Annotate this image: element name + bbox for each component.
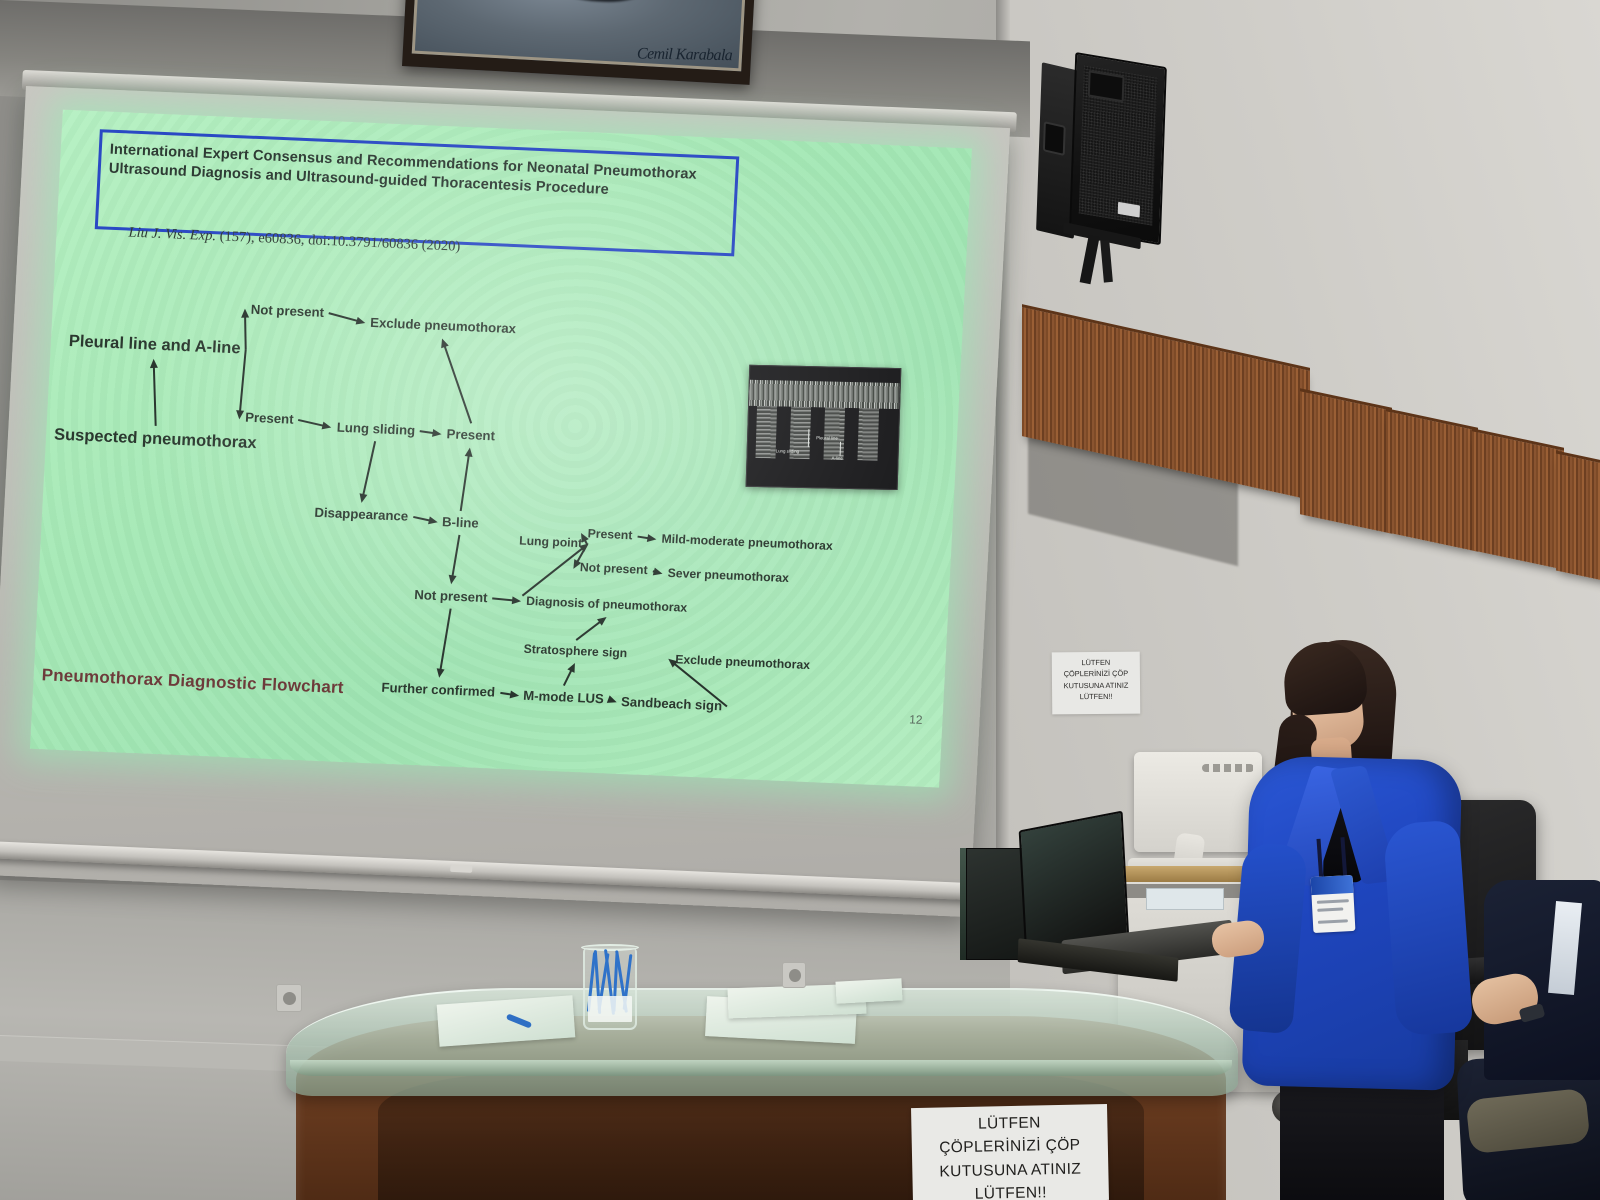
flow-edge-lung_point-to-present_3	[582, 534, 587, 544]
painting-subject	[535, 0, 658, 5]
flow-node-exclude_2: Exclude pneumothorax	[675, 652, 810, 672]
flow-node-mild_moderate: Mild-moderate pneumothorax	[661, 532, 833, 553]
pa-speaker	[1037, 60, 1165, 236]
wood-panel-3	[1386, 408, 1478, 552]
arrow-head	[356, 316, 367, 326]
badge-text-line	[1317, 899, 1349, 904]
flow-edge-b_line-to-not_present_3	[452, 535, 460, 584]
pen-jar	[583, 948, 637, 1030]
arrow-head	[149, 359, 157, 368]
flow-edge-not_present_3-to-diagnosis	[493, 598, 521, 601]
flow-edge-mmode-to-stratosphere	[564, 664, 575, 686]
flow-node-stratosphere: Stratosphere sign	[523, 642, 627, 660]
flow-edge-pleural_aline-to-present_1	[239, 349, 245, 417]
arrow-line	[522, 547, 584, 596]
presenter-right-arm	[1383, 820, 1474, 1037]
arrow-line	[298, 419, 325, 427]
arrow-head	[322, 421, 333, 431]
wall-sign-line: ÇÖPLERİNİZİ ÇÖP	[1052, 668, 1140, 680]
pen-jar-label	[588, 996, 632, 1022]
arrow-head	[653, 567, 664, 577]
arrow-head	[465, 447, 474, 457]
wood-panel-5	[1556, 451, 1600, 586]
speaker-front-grille	[1069, 52, 1167, 245]
flow-node-present_1: Present	[245, 410, 294, 427]
arrow-line	[329, 312, 359, 322]
arrow-line	[575, 620, 601, 641]
badge-text-line	[1317, 907, 1343, 911]
arrow-head	[512, 596, 522, 605]
presentation-slide: International Expert Consensus and Recom…	[30, 110, 972, 788]
monitor-control-buttons[interactable]	[1202, 764, 1254, 772]
speaker-bracket-arm	[1100, 240, 1113, 283]
wall-sign-line: LÜTFEN!!	[1052, 691, 1140, 703]
arrow-line	[452, 535, 461, 578]
arrow-head	[606, 695, 617, 706]
lecture-hall-photo: Cemil Karabala International Expert Cons…	[0, 0, 1600, 1200]
flow-node-suspected: Suspected pneumothorax	[54, 426, 257, 454]
screen-fabric: International Expert Consensus and Recom…	[0, 86, 1010, 917]
arrow-head	[647, 533, 657, 542]
flow-node-diagnosis: Diagnosis of pneumothorax	[526, 594, 688, 615]
podium-notice-sign: LÜTFEN ÇÖPLERİNİZİ ÇÖP KUTUSUNA ATINIZ L…	[911, 1104, 1109, 1200]
arrow-line	[460, 454, 470, 511]
presenter	[1250, 630, 1490, 1200]
power-socket	[782, 962, 806, 988]
flow-edge-not_present_3-to-further	[439, 609, 450, 678]
podium-sign-line: KUTUSUNA ATINIZ	[912, 1156, 1108, 1183]
flow-edge-further-to-mmode	[500, 693, 517, 696]
flow-edge-pleural_aline-to-not_present_1	[245, 310, 246, 350]
flow-node-not_present_3: Not present	[414, 587, 488, 605]
wall-sign-line: LÜTFEN	[1052, 657, 1140, 669]
wood-panel-4	[1472, 428, 1564, 570]
flow-node-pleural_aline: Pleural line and A-line	[68, 332, 241, 358]
flow-edge-lung_sliding-to-disappearance	[362, 441, 375, 501]
arrow-head	[236, 409, 245, 419]
flow-edge-b_line-to-present_2	[461, 448, 470, 511]
flow-node-further: Further confirmed	[381, 680, 495, 700]
flow-edge-present_2-to-exclude_1	[442, 339, 471, 423]
flow-edge-mmode-to-sandbeach	[609, 699, 615, 701]
podium-sign-line: ÇÖPLERİNİZİ ÇÖP	[912, 1133, 1108, 1160]
arrow-line	[362, 441, 376, 496]
flow-node-not_present_2: Not present	[580, 560, 648, 577]
arrow-head	[432, 428, 442, 437]
flow-node-exclude_1: Exclude pneumothorax	[370, 315, 516, 336]
flow-edge-not_present_1-to-exclude_1	[329, 313, 364, 323]
flow-edge-not_present_2-to-severe	[653, 571, 662, 573]
flow-node-present_2: Present	[446, 426, 495, 443]
arrow-line	[153, 366, 157, 426]
screen-pull-knob[interactable]	[450, 865, 472, 873]
arrow-head	[438, 337, 448, 348]
flow-node-mmode: M-mode LUS	[523, 688, 604, 706]
flow-node-lung_sliding: Lung sliding	[336, 420, 415, 438]
arrow-line	[443, 344, 472, 423]
painting-signature: Cemil Karabala	[637, 45, 732, 65]
medical-monitor	[1134, 752, 1262, 852]
power-socket	[276, 984, 302, 1012]
flow-node-severe: Sever pneumothorax	[667, 566, 789, 585]
wood-panel-2	[1300, 388, 1392, 534]
flow-node-sandbeach: Sandbeach sign	[621, 694, 723, 713]
paper-sheet	[835, 978, 902, 1003]
flow-node-not_present_1: Not present	[250, 302, 324, 320]
podium-glass-edge	[290, 1060, 1232, 1076]
conference-badge	[1311, 875, 1356, 933]
arrow-head	[435, 669, 444, 679]
flow-edge-diagnosis-to-lung_point	[522, 544, 588, 596]
flow-edge-present_3-to-mild_moderate	[637, 536, 655, 539]
slide-page-number: 12	[909, 712, 923, 727]
speaker-wall-bracket	[1061, 229, 1143, 284]
flow-node-b_line: B-line	[442, 514, 479, 531]
flow-node-disappearance: Disappearance	[314, 505, 409, 524]
arrow-line	[439, 608, 451, 671]
badge-text-line	[1318, 919, 1348, 924]
flow-node-lung_point: Lung point	[519, 534, 583, 551]
badge-header	[1311, 875, 1354, 895]
flow-edge-suspected-to-pleural_aline	[154, 360, 156, 426]
projection-screen: International Expert Consensus and Recom…	[0, 86, 1015, 927]
flow-node-present_3: Present	[587, 526, 632, 542]
arrow-head	[358, 493, 368, 503]
flow-edge-present_1-to-lung_sliding	[299, 420, 331, 427]
cart-control-panel[interactable]	[1146, 888, 1224, 910]
flow-edge-stratosphere-to-diagnosis	[576, 617, 606, 640]
arrow-head	[509, 690, 519, 699]
flow-edge-lung_sliding-to-present_2	[420, 431, 440, 434]
arrow-head	[448, 575, 457, 585]
arrow-head	[240, 308, 248, 317]
flow-edge-disappearance-to-b_line	[413, 517, 436, 522]
wall-notice-sign: LÜTFEN ÇÖPLERİNİZİ ÇÖP KUTUSUNA ATINIZ L…	[1052, 652, 1141, 715]
wall-sign-line: KUTUSUNA ATINIZ	[1052, 680, 1140, 692]
speaker-handle	[1043, 121, 1066, 156]
arrow-head	[427, 516, 438, 526]
arrow-line	[244, 316, 247, 350]
